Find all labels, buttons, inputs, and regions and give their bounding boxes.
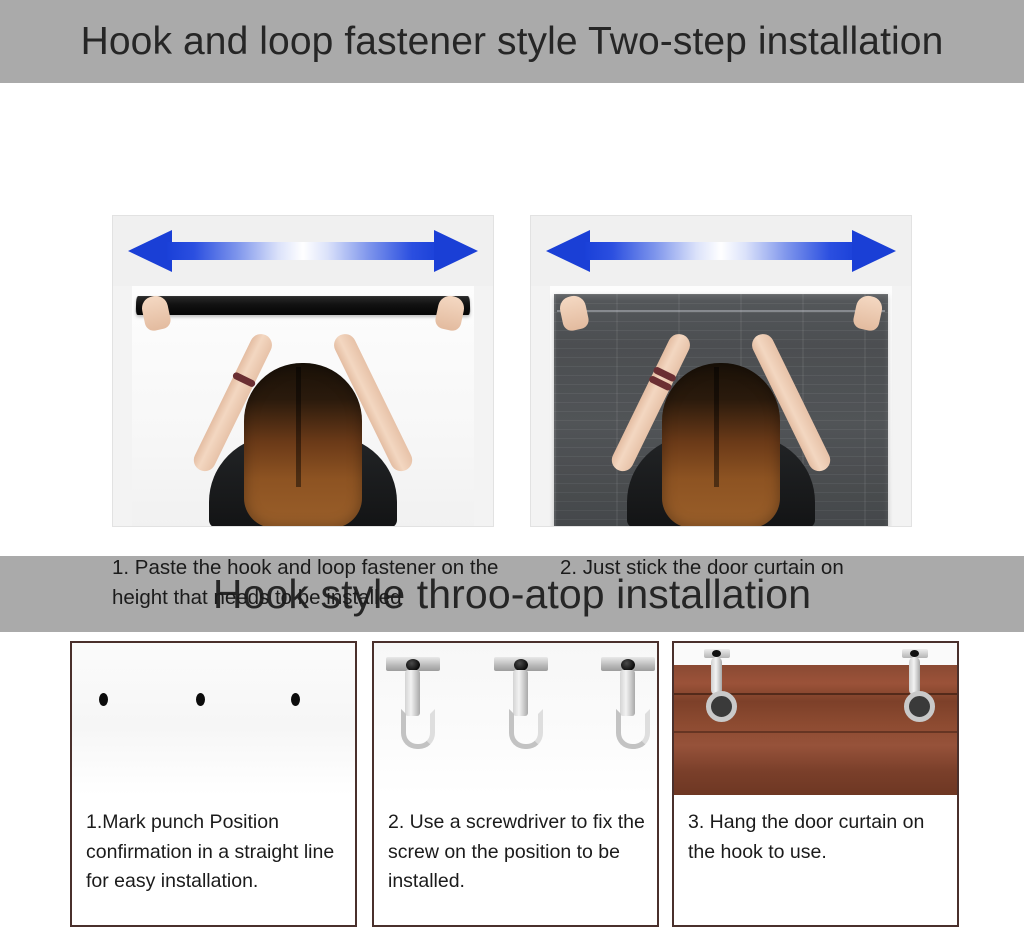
double-arrow-icon [546, 230, 896, 272]
step1-photo-card [112, 215, 494, 527]
grommet-icon [706, 691, 737, 722]
hook-step3-card: 3. Hang the door curtain on the hook to … [672, 641, 959, 927]
hook-step2-photo [374, 643, 657, 795]
section-one-title: Hook and loop fastener style Two-step in… [81, 20, 944, 64]
step2-photo-card [530, 215, 912, 527]
left-hand [558, 294, 591, 333]
screw-icon [910, 650, 919, 657]
arrow-head-right-icon [852, 230, 896, 272]
grommet-icon [904, 691, 935, 722]
arrow-zone [531, 216, 911, 286]
bracelet [232, 371, 257, 388]
hook-step1-caption: 1.Mark punch Position confirmation in a … [72, 795, 355, 925]
person-back-view [531, 286, 911, 527]
arrow-head-left-icon [128, 230, 172, 272]
punch-mark-icon [196, 693, 205, 706]
wall-hook-icon [394, 657, 432, 747]
hook-step1-card: 1.Mark punch Position confirmation in a … [70, 641, 357, 927]
step1-photo-stage [113, 286, 493, 527]
step2-caption: 2. Just stick the door curtain on [560, 553, 932, 583]
hook-step3-caption: 3. Hang the door curtain on the hook to … [674, 795, 957, 925]
section-one-banner: Hook and loop fastener style Two-step in… [0, 0, 1024, 83]
hook-step3-photo [674, 643, 957, 795]
wall-background [72, 643, 355, 795]
wall-hook-icon [711, 657, 722, 695]
hook-curl [616, 709, 650, 749]
right-hand [851, 294, 884, 333]
arrow-shaft [167, 242, 440, 260]
wall-hook-icon [909, 657, 920, 695]
hook-curl [401, 709, 435, 749]
hair [244, 363, 362, 527]
left-hand [140, 294, 173, 333]
double-arrow-icon [128, 230, 478, 272]
arrow-zone [113, 216, 493, 286]
step2-photo-stage [531, 286, 911, 527]
arrow-head-right-icon [434, 230, 478, 272]
hook-step1-photo [72, 643, 355, 795]
arrow-head-left-icon [546, 230, 590, 272]
section-one-body: 1. Paste the hook and loop fastener on t… [0, 83, 1024, 556]
section-two-body: 1.Mark punch Position confirmation in a … [0, 632, 1024, 943]
wall-hook-icon [609, 657, 647, 747]
wall-hook-icon [502, 657, 540, 747]
hook-step2-caption: 2. Use a screwdriver to fix the screw on… [374, 795, 657, 925]
person-back-view [113, 286, 493, 527]
right-hand [433, 294, 466, 333]
hair [662, 363, 780, 527]
curtain-scene [674, 643, 957, 795]
punch-mark-icon [99, 693, 108, 706]
hook-curl [509, 709, 543, 749]
screw-icon [712, 650, 721, 657]
punch-mark-icon [291, 693, 300, 706]
step1-caption: 1. Paste the hook and loop fastener on t… [112, 553, 510, 614]
hook-step2-card: 2. Use a screwdriver to fix the screw on… [372, 641, 659, 927]
arrow-shaft [585, 242, 858, 260]
